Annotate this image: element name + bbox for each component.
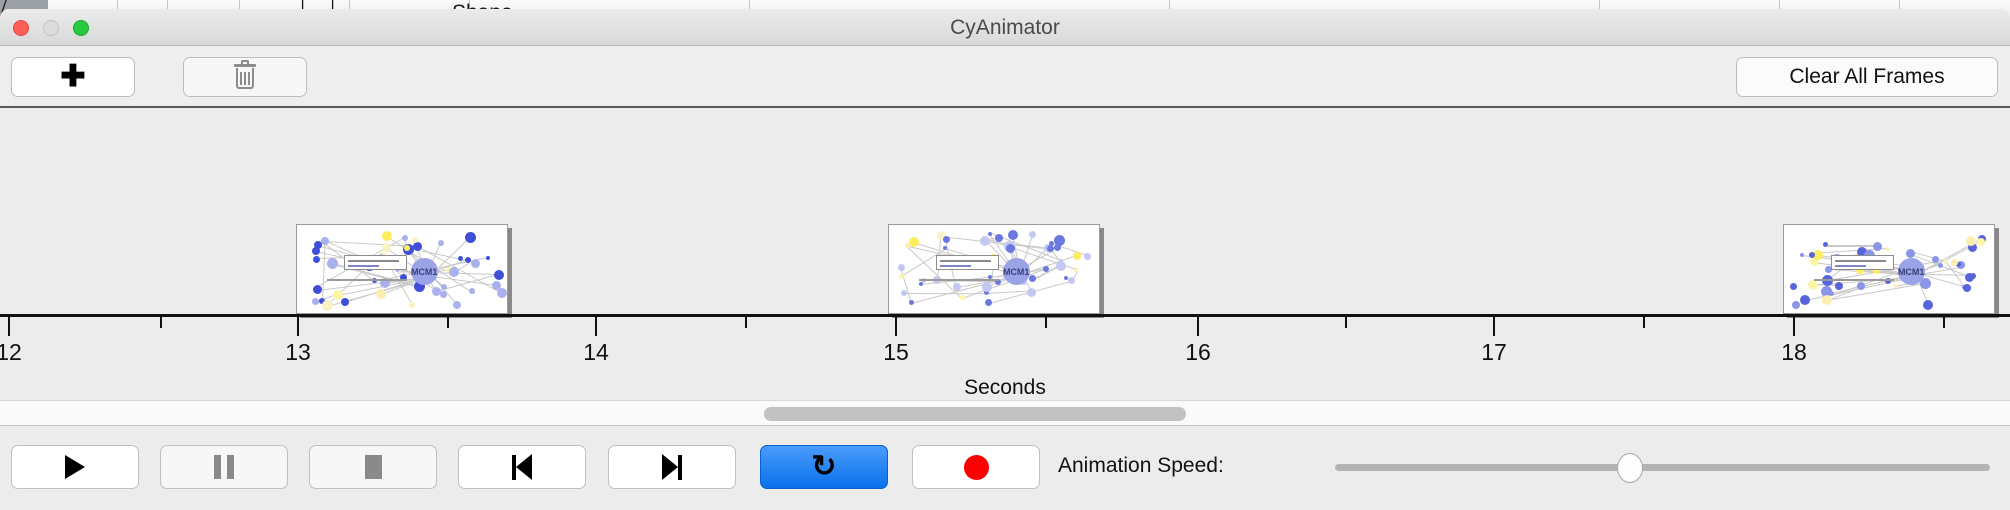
- axis-tick-label: 18: [1781, 339, 1807, 366]
- axis-tick-major: [1197, 317, 1199, 336]
- network-node: [1808, 280, 1818, 290]
- network-node: [465, 232, 476, 243]
- network-node: [1006, 244, 1015, 253]
- axis-tick-major: [297, 317, 299, 336]
- cyanimator-window: CyAnimator ✚ Clear All Frames MCM1MCM1MC…: [0, 9, 2010, 510]
- network-node: [1073, 252, 1081, 260]
- loop-icon: ↻: [811, 452, 836, 482]
- network-node: [1966, 236, 1976, 246]
- network-thumbnail: MCM1: [889, 225, 1099, 313]
- network-node: [458, 256, 463, 261]
- network-node: [1857, 282, 1865, 290]
- network-hub-node: MCM1: [1003, 258, 1030, 285]
- network-node: [432, 287, 441, 296]
- network-node: [1008, 230, 1018, 240]
- axis-tick-minor: [745, 317, 747, 328]
- network-node: [1873, 242, 1882, 251]
- network-hub-node: MCM1: [1898, 258, 1925, 285]
- network-caption: [1814, 279, 1895, 281]
- network-node: [322, 300, 333, 311]
- timeline-frame-thumbnail[interactable]: MCM1: [296, 224, 508, 314]
- network-node: [985, 299, 992, 306]
- axis-tick-major: [1793, 317, 1795, 336]
- network-node: [1923, 300, 1933, 310]
- axis-tick-label: 17: [1481, 339, 1507, 366]
- record-icon: [964, 455, 989, 480]
- network-node: [1963, 284, 1971, 292]
- network-node: [376, 289, 386, 299]
- axis-tick-minor: [160, 317, 162, 328]
- network-tooltip-box: [1831, 255, 1895, 270]
- clear-all-frames-button[interactable]: Clear All Frames: [1736, 57, 1998, 97]
- network-node: [982, 282, 992, 292]
- network-node: [1054, 235, 1065, 246]
- stop-icon: [365, 455, 382, 479]
- pause-icon: [214, 455, 234, 479]
- frames-strip: MCM1MCM1MCM1: [0, 108, 2010, 314]
- network-node: [312, 298, 319, 305]
- axis-tick-label: 14: [583, 339, 609, 366]
- network-tooltip-box: [344, 255, 408, 270]
- network-node: [313, 256, 320, 263]
- network-node: [327, 258, 338, 269]
- network-hub-node: MCM1: [411, 258, 438, 285]
- loop-button[interactable]: ↻: [760, 445, 888, 489]
- axis-tick-minor: [1045, 317, 1047, 328]
- animation-speed-knob[interactable]: [1617, 453, 1643, 483]
- timeline-axis-line: [0, 314, 2010, 317]
- network-node: [465, 257, 471, 263]
- network-node: [898, 264, 905, 271]
- network-thumbnail: MCM1: [1784, 225, 1994, 313]
- axis-tick-minor: [447, 317, 449, 328]
- network-node: [1835, 282, 1843, 290]
- network-caption: [327, 279, 408, 281]
- network-node: [321, 237, 329, 245]
- network-node: [486, 256, 490, 260]
- network-node: [382, 231, 392, 241]
- network-node: [1822, 295, 1832, 305]
- network-node: [1965, 273, 1974, 282]
- network-node: [1906, 249, 1915, 258]
- network-node: [1800, 253, 1804, 257]
- scrollbar-thumb[interactable]: [764, 407, 1186, 421]
- skip-back-icon: [512, 454, 532, 480]
- network-caption: [919, 279, 1000, 281]
- clear-all-frames-label: Clear All Frames: [1789, 65, 1944, 89]
- network-node: [497, 288, 507, 298]
- network-node: [1029, 275, 1036, 282]
- record-button[interactable]: [912, 445, 1040, 489]
- toolbar: ✚ Clear All Frames: [0, 46, 2010, 108]
- add-frame-button[interactable]: ✚: [11, 57, 135, 97]
- network-node: [412, 237, 418, 243]
- network-node: [1074, 268, 1078, 272]
- axis-tick-label: 15: [883, 339, 909, 366]
- timeline-frame-thumbnail[interactable]: MCM1: [888, 224, 1100, 314]
- network-node: [1977, 238, 1985, 246]
- axis-tick-minor: [1943, 317, 1945, 328]
- axis-tick-minor: [1643, 317, 1645, 328]
- network-node: [1068, 277, 1075, 284]
- animation-speed-slider[interactable]: [1335, 464, 1990, 471]
- window-title: CyAnimator: [0, 16, 2010, 40]
- network-node: [313, 285, 322, 294]
- network-edge: [1827, 246, 1877, 247]
- delete-frame-button[interactable]: [183, 57, 307, 97]
- network-node: [1064, 276, 1068, 280]
- play-icon: [65, 455, 85, 479]
- network-thumbnail: MCM1: [297, 225, 507, 313]
- axis-tick-label: 12: [0, 339, 22, 366]
- title-bar: CyAnimator: [0, 9, 2010, 46]
- animation-speed-label: Animation Speed:: [1058, 454, 1224, 478]
- network-node: [471, 259, 480, 268]
- timeline-panel[interactable]: MCM1MCM1MCM1 12131415161718 Seconds: [0, 108, 2010, 400]
- network-node: [995, 234, 1003, 242]
- next-frame-button[interactable]: [608, 445, 736, 489]
- stop-button[interactable]: [309, 445, 437, 489]
- network-node: [449, 267, 459, 277]
- axis-tick-label: 13: [285, 339, 311, 366]
- network-node: [402, 235, 408, 241]
- axis-title: Seconds: [0, 376, 2010, 400]
- network-node: [1893, 284, 1897, 288]
- network-node: [494, 270, 504, 280]
- network-edge: [907, 246, 963, 299]
- network-node: [1084, 253, 1091, 260]
- timeline-scrollbar[interactable]: [0, 400, 2010, 426]
- network-node: [1886, 247, 1890, 251]
- network-node: [1809, 252, 1815, 258]
- network-node: [943, 236, 950, 243]
- network-node: [909, 237, 919, 247]
- network-node: [1800, 295, 1810, 305]
- axis-tick-major: [1493, 317, 1495, 336]
- network-node: [441, 284, 447, 290]
- network-node: [453, 301, 461, 309]
- playback-control-bar: ↻ Animation Speed:: [0, 426, 2010, 508]
- axis-tick-major: [595, 317, 597, 336]
- network-node: [438, 240, 444, 246]
- network-node: [341, 298, 349, 306]
- axis-tick-major: [8, 317, 10, 336]
- network-tooltip-box: [936, 255, 1000, 270]
- network-node: [1792, 301, 1800, 309]
- network-node: [1790, 283, 1797, 290]
- skip-forward-icon: [662, 454, 682, 480]
- trash-icon: [234, 64, 256, 90]
- axis-tick-minor: [1345, 317, 1347, 328]
- network-node: [413, 242, 422, 251]
- network-node: [901, 290, 907, 296]
- network-node: [953, 283, 961, 291]
- play-button[interactable]: [11, 445, 139, 489]
- pause-button[interactable]: [160, 445, 288, 489]
- axis-tick-major: [895, 317, 897, 336]
- prev-frame-button[interactable]: [458, 445, 586, 489]
- plus-icon: ✚: [60, 62, 85, 92]
- axis-tick-label: 16: [1185, 339, 1211, 366]
- timeline-frame-thumbnail[interactable]: MCM1: [1783, 224, 1995, 314]
- network-node: [960, 295, 965, 300]
- network-node: [1027, 288, 1036, 297]
- network-node: [409, 302, 415, 308]
- network-node: [1029, 231, 1036, 238]
- network-node: [1938, 263, 1943, 268]
- network-node: [909, 300, 914, 305]
- network-node: [899, 274, 904, 279]
